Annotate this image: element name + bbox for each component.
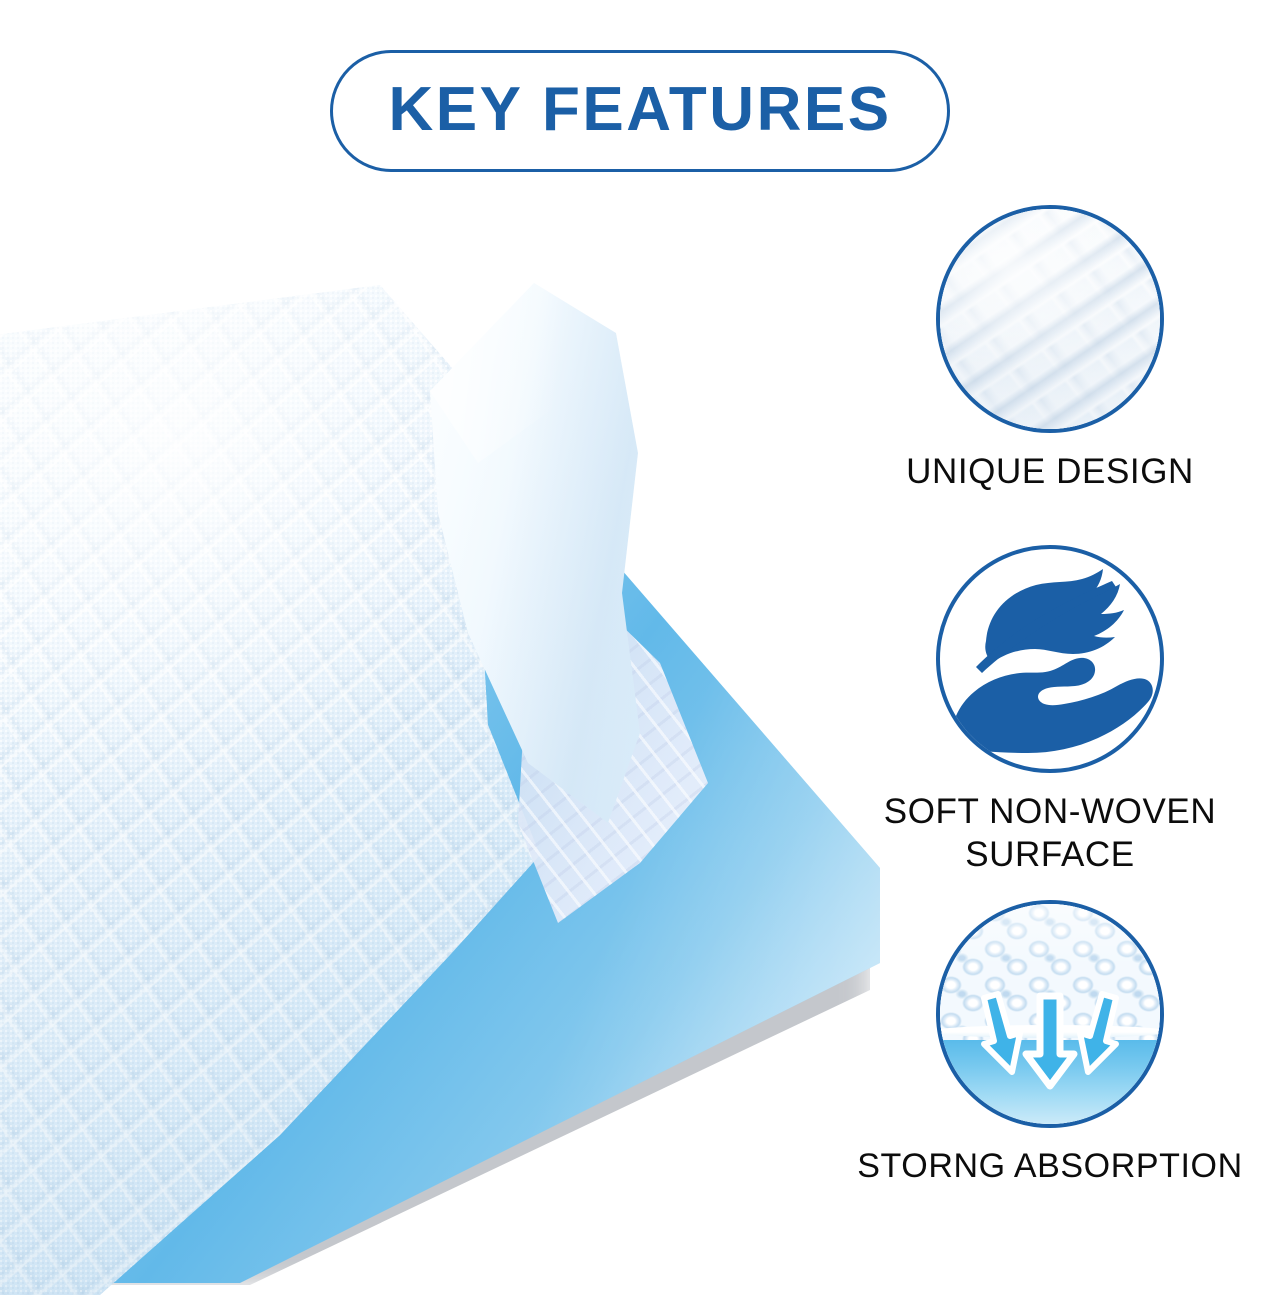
feather-in-hand-glyph bbox=[940, 549, 1160, 769]
feature-label-unique-design: UNIQUE DESIGN bbox=[906, 451, 1194, 494]
feature-label-storng-absorption: STORNG ABSORPTION bbox=[857, 1146, 1243, 1187]
feature-label-soft-non-woven-surface: SOFT NON-WOVEN SURFACE bbox=[884, 791, 1216, 876]
left-arrow bbox=[984, 994, 1020, 1072]
absorption-illustration bbox=[940, 904, 1160, 1124]
key-features-title-pill: KEY FEATURES bbox=[330, 50, 950, 172]
feather-in-hand-icon bbox=[936, 545, 1164, 773]
feature-unique-design: UNIQUE DESIGN bbox=[820, 205, 1280, 494]
feature-soft-non-woven-surface: SOFT NON-WOVEN SURFACE bbox=[820, 545, 1280, 876]
right-arrow bbox=[1080, 994, 1116, 1072]
folded-corner-flap bbox=[408, 263, 738, 1023]
open-hand bbox=[950, 658, 1153, 753]
center-arrow bbox=[1026, 996, 1074, 1086]
feature-storng-absorption: STORNG ABSORPTION bbox=[820, 900, 1280, 1187]
absorption-arrows bbox=[940, 904, 1160, 1124]
page-title: KEY FEATURES bbox=[388, 79, 891, 141]
absorption-arrows-icon bbox=[936, 900, 1164, 1128]
fabric-shading bbox=[940, 209, 1160, 429]
quilted-fabric-icon bbox=[936, 205, 1164, 433]
product-image bbox=[0, 255, 890, 1285]
